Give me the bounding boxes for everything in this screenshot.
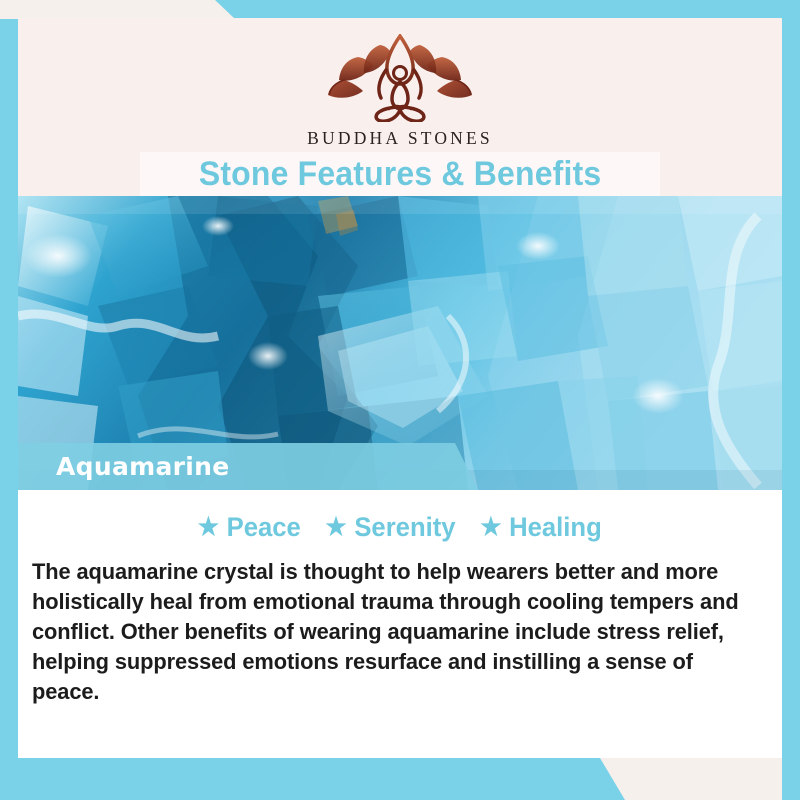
poster-inner-canvas: BUDDHA STONES Stone Features & Benefits: [18, 18, 782, 758]
keyword-item-healing: ★ Healing: [480, 512, 602, 543]
keyword-label: Healing: [509, 512, 602, 543]
brand-logo: BUDDHA STONES: [18, 34, 782, 149]
star-icon: ★: [480, 515, 501, 540]
stone-name: Aquamarine: [56, 452, 229, 481]
poster-header: BUDDHA STONES Stone Features & Benefits: [18, 18, 782, 196]
keyword-item-peace: ★ Peace: [198, 512, 301, 543]
frame-right-border: [782, 0, 800, 800]
page-title: Stone Features & Benefits: [199, 155, 602, 194]
lotus-meditation-figure-icon: [325, 34, 475, 122]
stone-name-banner: Aquamarine: [18, 443, 478, 490]
aquamarine-crystal-photo: Aquamarine: [18, 196, 782, 490]
description-paragraph: The aquamarine crystal is thought to hel…: [32, 557, 746, 707]
keyword-label: Peace: [227, 512, 301, 543]
keyword-list: ★ Peace ★ Serenity ★ Healing: [18, 512, 782, 543]
content-section: ★ Peace ★ Serenity ★ Healing The aquamar…: [18, 490, 782, 707]
brand-name: BUDDHA STONES: [307, 128, 493, 149]
star-icon: ★: [198, 515, 219, 540]
poster: BUDDHA STONES Stone Features & Benefits: [0, 0, 800, 800]
frame-left-border: [0, 0, 18, 800]
star-icon: ★: [325, 515, 346, 540]
keyword-label: Serenity: [354, 512, 455, 543]
keyword-item-serenity: ★ Serenity: [325, 512, 455, 543]
title-banner: Stone Features & Benefits: [140, 152, 660, 196]
